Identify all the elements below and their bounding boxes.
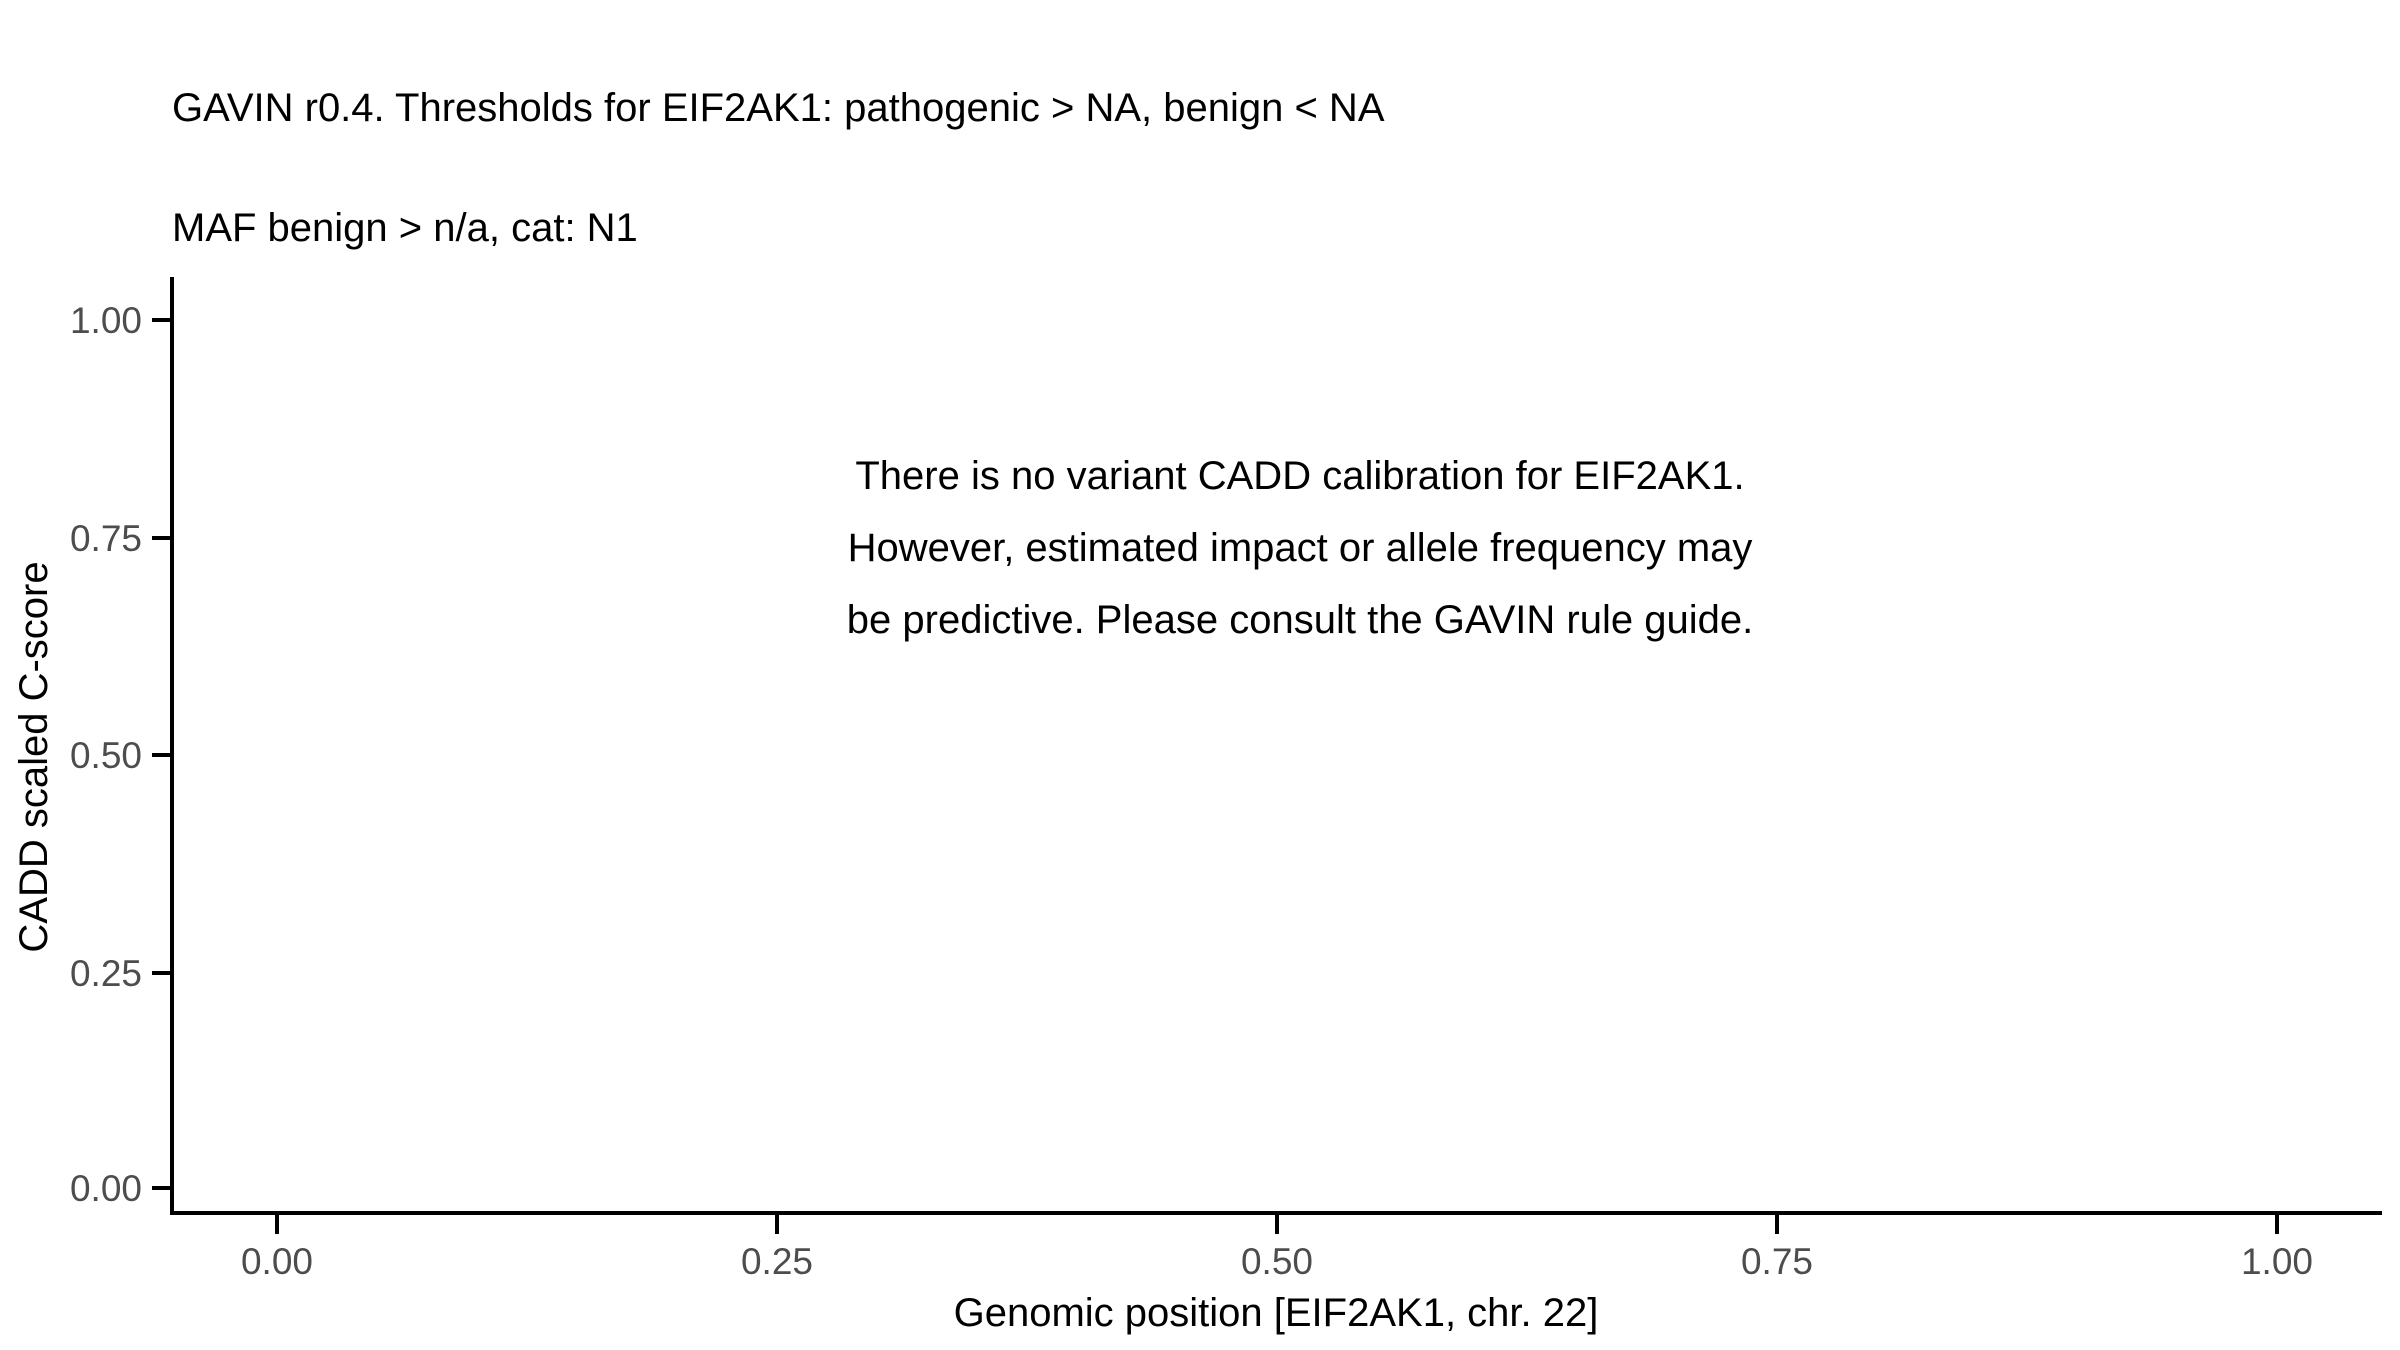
x-tick-label-0.50: 0.50 xyxy=(1177,1243,1377,1280)
no-calibration-message: There is no variant CADD calibration for… xyxy=(500,440,2100,656)
y-axis-line xyxy=(170,277,174,1215)
x-tick-mark-0.50 xyxy=(1275,1215,1279,1234)
x-tick-mark-1.00 xyxy=(2275,1215,2279,1234)
plot-title-line-2: MAF benign > n/a, cat: N1 xyxy=(172,208,2372,248)
y-tick-mark-0.50 xyxy=(152,753,171,757)
x-tick-label-0.25: 0.25 xyxy=(677,1243,877,1280)
x-axis-title: Genomic position [EIF2AK1, chr. 22] xyxy=(172,1293,2380,1333)
no-calibration-line-2: However, estimated impact or allele freq… xyxy=(500,512,2100,584)
plot-panel xyxy=(172,277,2380,1213)
y-axis-title: CADD scaled C-score xyxy=(14,289,54,1225)
y-tick-mark-0.25 xyxy=(152,971,171,975)
x-tick-mark-0.00 xyxy=(275,1215,279,1234)
y-tick-mark-1.00 xyxy=(152,318,171,322)
y-tick-mark-0.75 xyxy=(152,536,171,540)
no-calibration-line-3: be predictive. Please consult the GAVIN … xyxy=(500,584,2100,656)
x-tick-label-0.00: 0.00 xyxy=(177,1243,377,1280)
x-tick-label-1.00: 1.00 xyxy=(2177,1243,2377,1280)
x-tick-mark-0.25 xyxy=(775,1215,779,1234)
plot-title-line-1: GAVIN r0.4. Thresholds for EIF2AK1: path… xyxy=(172,88,2372,128)
y-tick-mark-0.00 xyxy=(152,1186,171,1190)
no-calibration-line-1: There is no variant CADD calibration for… xyxy=(500,440,2100,512)
x-tick-mark-0.75 xyxy=(1775,1215,1779,1234)
plot-canvas: GAVIN r0.4. Thresholds for EIF2AK1: path… xyxy=(0,0,2400,1350)
x-tick-label-0.75: 0.75 xyxy=(1677,1243,1877,1280)
